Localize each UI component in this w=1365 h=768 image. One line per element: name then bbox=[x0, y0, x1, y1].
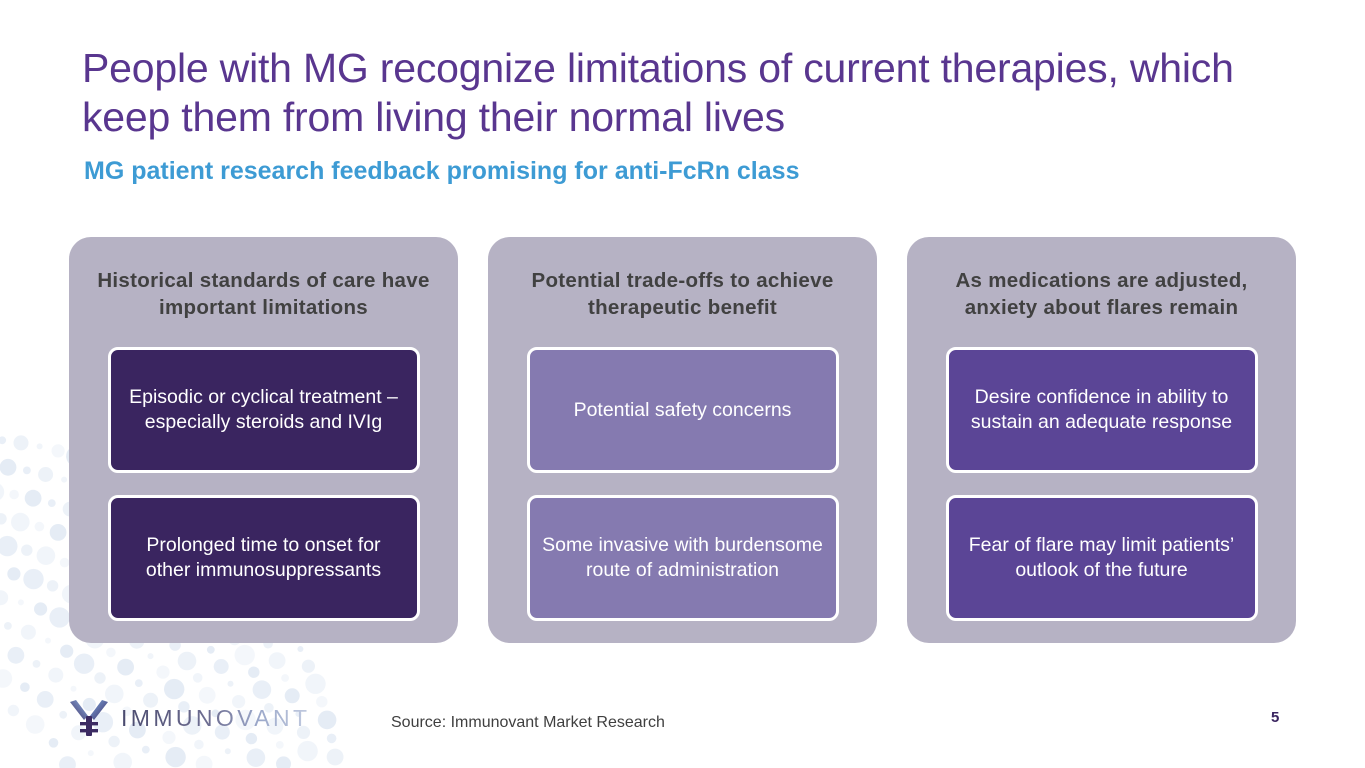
page-title: People with MG recognize limitations of … bbox=[82, 44, 1282, 142]
slide-footer: IMMUNOVANT Source: Immunovant Market Res… bbox=[0, 688, 1365, 768]
column-card: Historical standards of care have import… bbox=[69, 237, 458, 643]
content-box: Potential safety concerns bbox=[527, 347, 839, 473]
antibody-y-icon bbox=[66, 698, 112, 738]
content-box: Fear of flare may limit patients’ outloo… bbox=[946, 495, 1258, 621]
card-heading: Potential trade-offs to achieve therapeu… bbox=[508, 267, 857, 321]
content-box: Prolonged time to onset for other immuno… bbox=[108, 495, 420, 621]
source-note: Source: Immunovant Market Research bbox=[391, 714, 665, 732]
columns-container: Historical standards of care have import… bbox=[69, 237, 1296, 643]
content-box: Episodic or cyclical treatment – especia… bbox=[108, 347, 420, 473]
brand-logo: IMMUNOVANT bbox=[66, 698, 310, 738]
content-box-stack: Potential safety concernsSome invasive w… bbox=[527, 347, 839, 621]
content-box: Some invasive with burdensome route of a… bbox=[527, 495, 839, 621]
content-box-stack: Desire confidence in ability to sustain … bbox=[946, 347, 1258, 621]
page-number: 5 bbox=[1271, 709, 1279, 726]
content-box-stack: Episodic or cyclical treatment – especia… bbox=[108, 347, 420, 621]
content-box: Desire confidence in ability to sustain … bbox=[946, 347, 1258, 473]
page-subtitle: MG patient research feedback promising f… bbox=[84, 156, 1282, 186]
card-heading: As medications are adjusted, anxiety abo… bbox=[927, 267, 1276, 321]
column-card: As medications are adjusted, anxiety abo… bbox=[907, 237, 1296, 643]
title-block: People with MG recognize limitations of … bbox=[82, 44, 1282, 186]
card-heading: Historical standards of care have import… bbox=[89, 267, 438, 321]
column-card: Potential trade-offs to achieve therapeu… bbox=[488, 237, 877, 643]
brand-wordmark: IMMUNOVANT bbox=[121, 705, 310, 732]
